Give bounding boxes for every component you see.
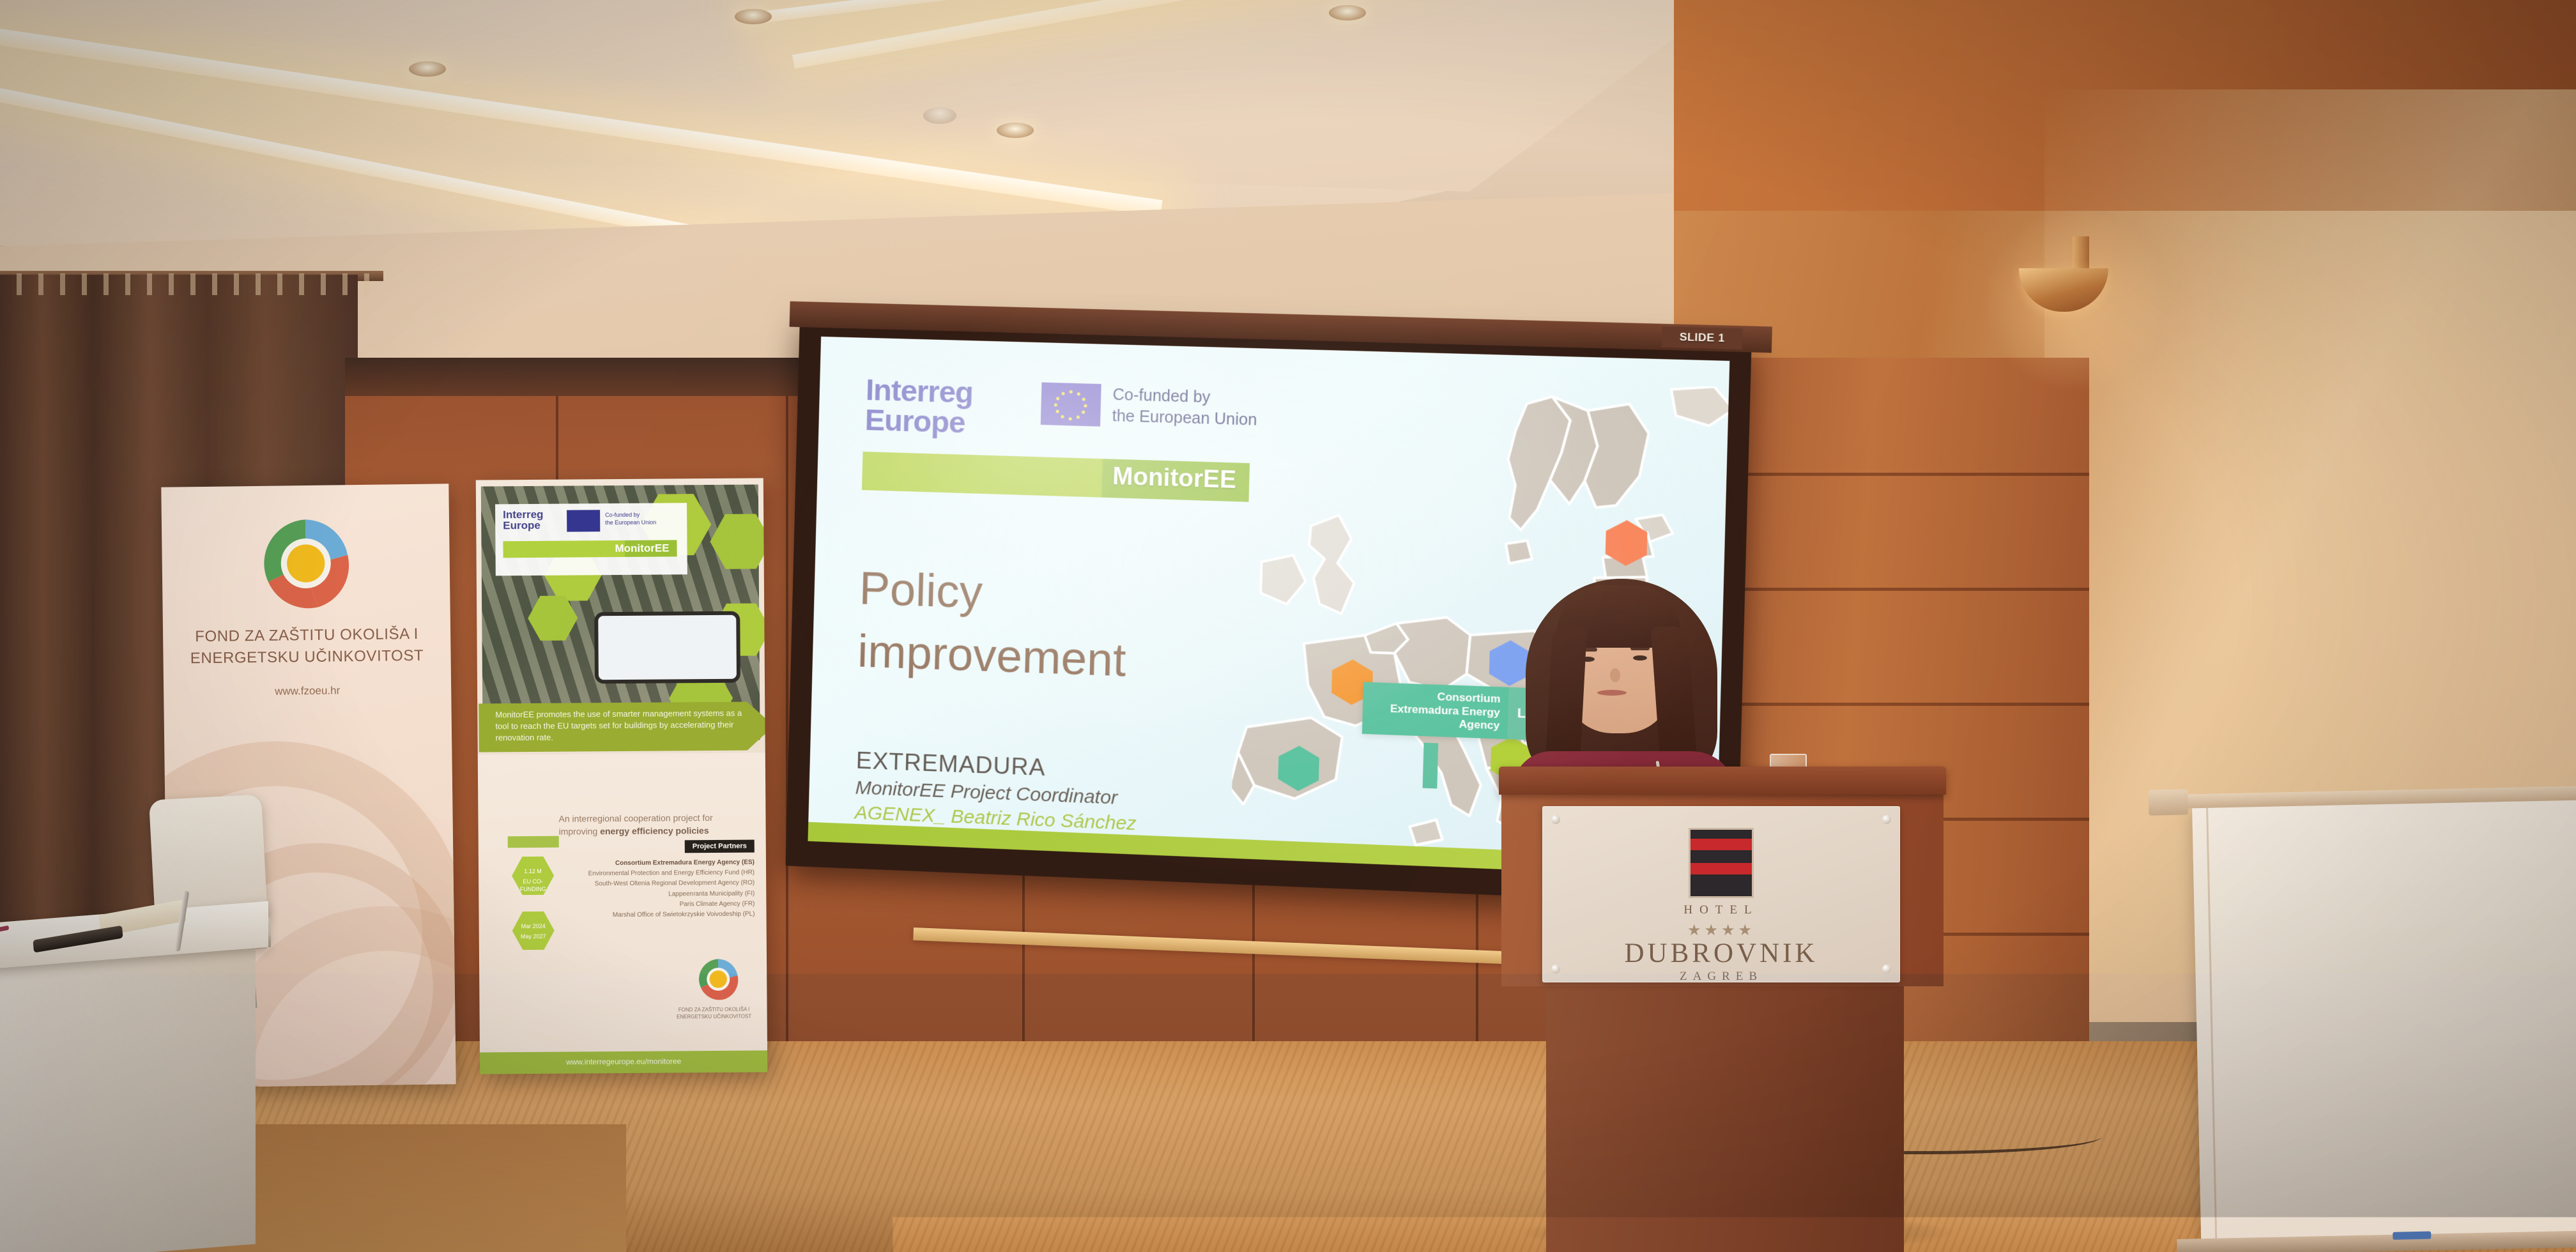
curtain-hooks [0,273,383,295]
banner-project-bar: MonitorEE [503,540,677,558]
banner-tagline-bold: energy efficiency policies [600,825,709,836]
pen [0,926,9,935]
banner-interreg-line1: Interreg [503,509,543,520]
downlight-icon [409,61,446,77]
fzoeu-title-line1: FOND ZA ZAŠTITU OKOLIŠA I [163,623,450,648]
hotel-name: DUBROVNIK [1542,938,1900,969]
banner-device-illustration [594,611,740,684]
banner-eu-text: Co-funded by the European Union [605,511,656,527]
hotel-city: ZAGREB [1542,970,1900,984]
banner-partners-list: Consortium Extremadura Energy Agency (ES… [578,858,755,921]
partner-item: Paris Climate Agency (FR) [578,899,755,910]
speaker-mouth [1597,690,1627,696]
partner-item: Environmental Protection and Energy Effi… [578,868,755,880]
hotel-word: HOTEL [1542,903,1900,917]
partner-item: Marshal Office of Swietokrzyskie Voivode… [578,909,755,920]
fzoeu-title-line2: ENERGETSKU UČINKOVITOST [163,645,450,670]
banner-budget-chip [508,836,559,848]
banner-eu-line1: Co-funded by [605,511,656,519]
eu-text-line2: the European Union [1112,406,1257,431]
banner-interreg-logo: Interreg Europe [503,509,544,531]
banner-fzoeu-logo-icon [695,956,742,1003]
map-callout-title: Consortium Extremadura Energy Agency [1362,682,1509,740]
hotel-sign-plate: HOTEL ★★★★ DUBROVNIK ZAGREB [1542,806,1900,982]
hotel-emblem-icon [1689,828,1754,898]
speaker-eye-right [1633,655,1647,660]
lectern-base [1546,986,1904,1252]
partner-item: Lappeenranta Municipality (FI) [578,889,755,900]
smoke-detector-icon [923,107,956,124]
marker-pen [2393,1232,2431,1240]
hotel-star-rating: ★★★★ [1542,921,1900,940]
banner-hero-image: Interreg Europe Co-funded by the Europea… [481,484,760,742]
rollup-banner-monitoree: Interreg Europe Co-funded by the Europea… [476,478,767,1074]
interreg-logo-line2: Europe [864,404,972,438]
lectern: HOTEL ★★★★ DUBROVNIK ZAGREB [1499,767,1946,1252]
partner-item: South-West Oltenia Regional Development … [578,878,755,890]
fzoeu-url: www.fzoeu.hr [164,683,451,699]
fzoeu-title: FOND ZA ZAŠTITU OKOLIŠA I ENERGETSKU UČI… [163,623,451,670]
slide-title-line2: improvement [857,620,1127,692]
banner-interreg-line2: Europe [503,520,543,531]
side-table [0,912,275,1252]
project-name-label: MonitorEE [1112,463,1237,494]
slide-number-badge: SLIDE 1 [1662,326,1743,349]
banner-eu-line2: the European Union [605,519,656,527]
partner-item: Consortium Extremadura Energy Agency (ES… [578,858,755,869]
banner-eu-flag-icon [567,510,600,531]
fzoeu-logo-icon [256,513,356,614]
remote-control [33,926,123,953]
eu-flag-icon [1041,383,1101,427]
banner-fzoeu-line2: ENERGETSKU UČINKOVITOST [666,1013,762,1021]
wall-sconce [2019,256,2108,339]
project-name-bar: MonitorEE [862,452,1250,502]
banner-tagline: An interregional cooperation project for… [558,812,750,838]
banner-project-label: MonitorEE [615,542,669,555]
eu-cofunding-text: Co-funded by the European Union [1112,385,1258,431]
banner-fzoeu-text: FOND ZA ZAŠTITU OKOLIŠA I ENERGETSKU UČI… [666,1005,762,1020]
speaker-nose [1610,668,1620,682]
banner-description-band: MonitorEE promotes the use of smarter ma… [479,701,767,752]
banner-logo-plate: Interreg Europe Co-funded by the Europea… [495,503,687,576]
banner-partners-chip: Project Partners [685,840,755,853]
flipchart-clip [2148,789,2188,815]
downlight-icon [735,9,772,24]
flipchart [2192,789,2576,1245]
banner-budget-hex: 1.12 M EU CO-FUNDING [512,857,554,895]
slide-title-line1: Policy [859,558,1129,629]
interreg-europe-logo: Interreg Europe [864,375,973,438]
flipchart-paper [2192,798,2576,1248]
banner-footer-url: www.interregeurope.eu/monitoree [480,1050,767,1067]
table-front-panel [0,943,256,1252]
map-callout-tail [1423,743,1439,789]
lectern-top [1499,767,1946,795]
slide-byline: EXTREMADURA MonitorEE Project Coordinato… [854,746,1138,837]
banner-description-text: MonitorEE promotes the use of smarter ma… [479,701,767,749]
downlight-icon [1329,5,1366,20]
banner-duration-hex: Mar 2024 May 2027 [512,912,554,950]
eu-cofunding-block: Co-funded by the European Union [1041,383,1258,431]
conference-room-scene: SLIDE 1 Interreg Europe [0,0,2576,1252]
banner-footer: www.interregeurope.eu/monitoree [480,1050,767,1074]
downlight-icon [997,123,1034,138]
slide-title: Policy improvement [857,558,1128,692]
banner-lower-section: An interregional cooperation project for… [478,752,767,1074]
